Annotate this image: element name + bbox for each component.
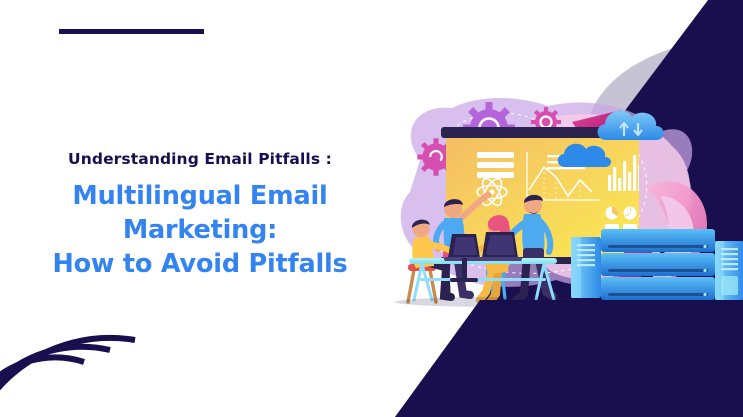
server-stack [571, 229, 743, 300]
server-tower-right [715, 241, 743, 300]
navy-wedge-foreground [395, 300, 743, 417]
stacked-bars-icon [477, 152, 514, 178]
server-tower-left [571, 237, 601, 298]
server-rack-main [601, 229, 715, 300]
eyebrow-text: Understanding Email Pitfalls : [0, 150, 400, 169]
marketing-banner: Understanding Email Pitfalls : Multiling… [0, 0, 743, 417]
headline-line-2: How to Avoid Pitfalls [0, 247, 400, 281]
page-title: Multilingual Email Marketing: How to Avo… [0, 179, 400, 282]
headline-text-block: Understanding Email Pitfalls : Multiling… [0, 150, 400, 282]
headline-line-1: Multilingual Email Marketing: [0, 179, 400, 248]
